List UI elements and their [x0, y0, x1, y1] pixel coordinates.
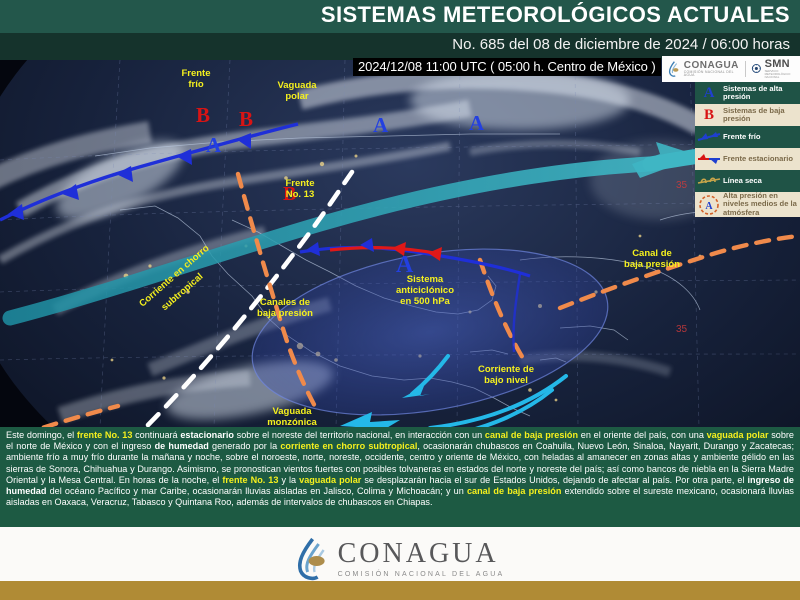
- conagua-footer-logo: CONAGUA COMISIÓN NACIONAL DEL AGUA: [296, 537, 505, 581]
- dry-line-icon: [695, 175, 723, 187]
- smn-emblem-icon: [751, 60, 762, 77]
- legend-item-low-pressure[interactable]: B Sistemas de baja presión: [695, 104, 800, 126]
- conagua-brand-sub: COMISIÓN NACIONAL DEL AGUA: [684, 71, 740, 78]
- svg-text:35: 35: [676, 180, 688, 191]
- legend-label-low-pressure: Sistemas de baja presión: [723, 107, 800, 124]
- map-timestamp: 2024/12/08 11:00 UTC ( 05:00 h. Centro d…: [353, 58, 661, 76]
- forecast-text: Este domingo, el frente No. 13 continuar…: [0, 427, 800, 527]
- stationary-front-icon: [695, 153, 723, 165]
- legend-item-dry-line[interactable]: Línea seca: [695, 170, 800, 192]
- legend-label-mid-level-high: Alta presión en niveles medios de la atm…: [723, 192, 800, 217]
- cold-front-icon: [695, 131, 723, 143]
- legend-item-stationary-front[interactable]: Frente estacionario: [695, 148, 800, 170]
- page-footer: CONAGUA COMISIÓN NACIONAL DEL AGUA: [0, 527, 800, 600]
- footer-brand: CONAGUA: [338, 540, 505, 568]
- mid-level-high-pressure-icon: A: [695, 194, 723, 216]
- footer-accent-bar: [0, 581, 800, 600]
- footer-tagline: COMISIÓN NACIONAL DEL AGUA: [338, 571, 505, 578]
- legend-item-cold-front[interactable]: Frente frío: [695, 126, 800, 148]
- letter-A-blue-icon: A: [695, 85, 723, 102]
- logo-divider: [745, 61, 746, 77]
- smn-logo-header: SMN SERVICIO METEOROLÓGICO NACIONAL: [751, 59, 800, 80]
- weather-bulletin-page: SISTEMAS METEOROLÓGICOS ACTUALES No. 685…: [0, 0, 800, 600]
- conagua-logo-header: CONAGUA COMISIÓN NACIONAL DEL AGUA: [662, 60, 740, 78]
- legend-label-dry-line: Línea seca: [723, 177, 800, 185]
- legend-label-cold-front: Frente frío: [723, 133, 800, 141]
- water-drop-icon: [668, 60, 681, 78]
- map-legend: A Sistemas de alta presión B Sistemas de…: [695, 82, 800, 217]
- page-title: SISTEMAS METEOROLÓGICOS ACTUALES: [321, 2, 790, 28]
- water-drop-icon: [296, 537, 330, 581]
- satellite-weather-map[interactable]: 35 35 B B A A A B A Frente frío Vaguada …: [0, 60, 800, 427]
- legend-label-stationary-front: Frente estacionario: [723, 155, 800, 163]
- svg-text:35: 35: [676, 324, 688, 335]
- svg-text:A: A: [705, 201, 713, 212]
- letter-B-red-icon: B: [695, 107, 723, 124]
- smn-brand-sub: SERVICIO METEOROLÓGICO NACIONAL: [765, 70, 800, 80]
- legend-item-high-pressure[interactable]: A Sistemas de alta presión: [695, 82, 800, 104]
- bulletin-number: No. 685 del 08 de diciembre de 2024 / 06…: [452, 36, 790, 53]
- legend-item-mid-level-high[interactable]: A Alta presión en niveles medios de la a…: [695, 192, 800, 217]
- header-logo-bar: CONAGUA COMISIÓN NACIONAL DEL AGUA SMN S…: [662, 56, 800, 82]
- legend-label-high-pressure: Sistemas de alta presión: [723, 85, 800, 102]
- smn-brand-text: SMN: [765, 59, 800, 70]
